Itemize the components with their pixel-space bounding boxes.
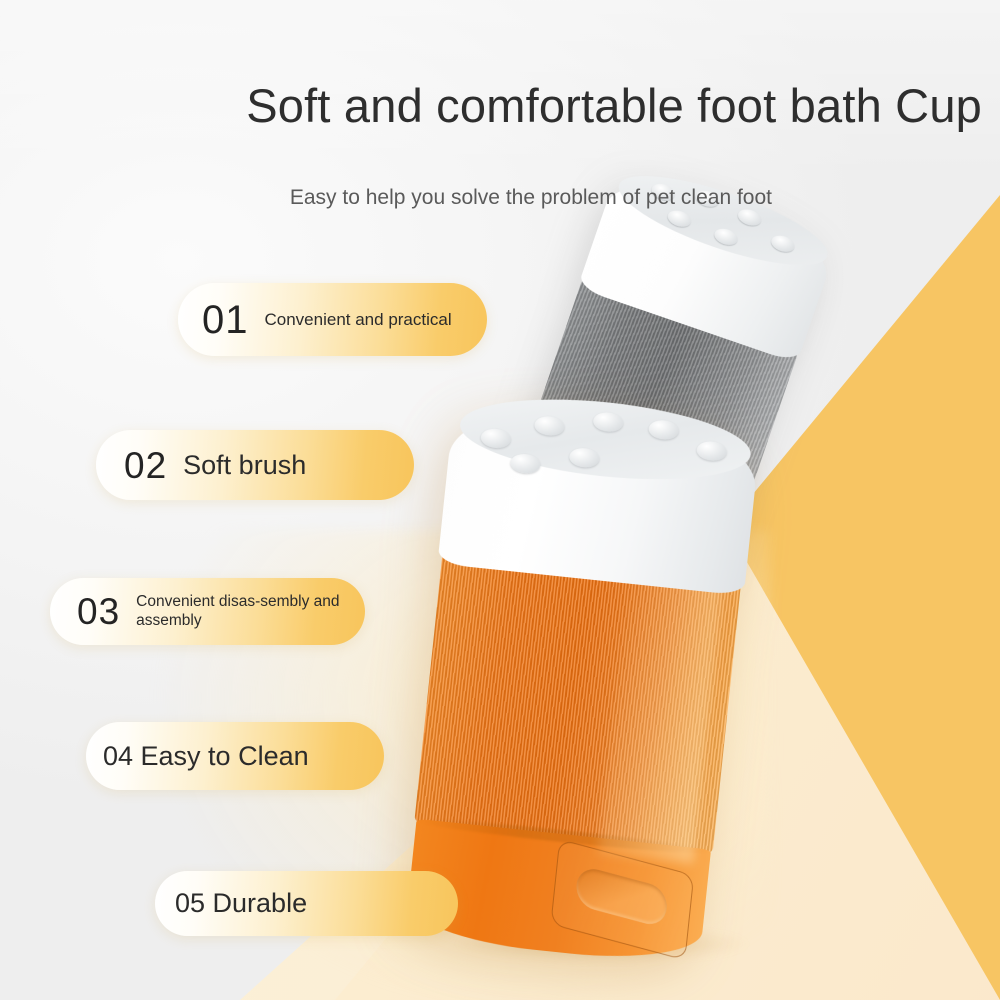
- feature-label-04: 04 Easy to Clean: [103, 741, 309, 772]
- product-promo-image: Soft and comfortable foot bath Cup Easy …: [0, 0, 1000, 1000]
- feature-pill-05[interactable]: 05 Durable: [155, 871, 458, 936]
- feature-pill-03[interactable]: 03 Convenient disas-sembly and assembly: [50, 578, 365, 645]
- feature-label-01: Convenient and practical: [265, 310, 452, 329]
- feature-number-01: 01: [202, 300, 249, 340]
- feature-label-03: Convenient disas-sembly and assembly: [136, 593, 365, 630]
- feature-number-03: 03: [77, 593, 120, 630]
- page-subtitle: Easy to help you solve the problem of pe…: [0, 186, 772, 210]
- feature-number-02: 02: [124, 447, 167, 484]
- feature-label-05: 05 Durable: [175, 888, 307, 919]
- feature-label-02: Soft brush: [183, 450, 306, 481]
- page-title: Soft and comfortable foot bath Cup: [0, 78, 982, 133]
- feature-pill-02[interactable]: 02 Soft brush: [96, 430, 414, 500]
- feature-pill-01[interactable]: 01 Convenient and practical: [178, 283, 487, 356]
- feature-pill-04[interactable]: 04 Easy to Clean: [86, 722, 384, 790]
- product-orange-cup: [399, 396, 762, 965]
